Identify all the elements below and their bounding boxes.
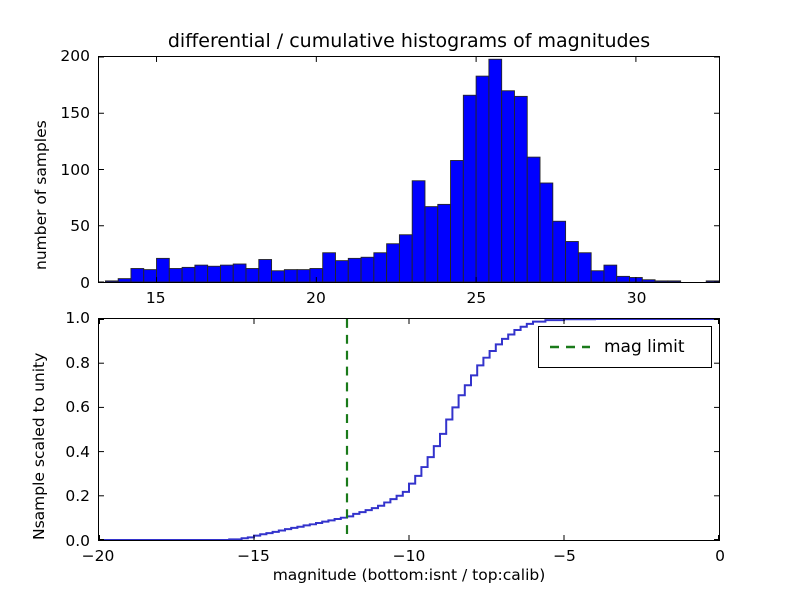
chart-title: differential / cumulative histograms of … bbox=[98, 30, 720, 52]
histogram-bar bbox=[578, 253, 591, 282]
x-axis-label: magnitude (bottom:isnt / top:calib) bbox=[98, 566, 720, 584]
top-panel-y-tick-label: 100 bbox=[60, 161, 90, 179]
histogram-bar bbox=[451, 161, 464, 283]
histogram-bar bbox=[668, 281, 681, 282]
histogram-bar bbox=[272, 271, 285, 282]
histogram-bar bbox=[208, 266, 221, 282]
bottom-panel-y-tick-label: 0.2 bbox=[65, 487, 90, 505]
histogram-bar bbox=[259, 260, 272, 283]
top-panel-x-tick-label: 15 bbox=[146, 289, 166, 307]
histogram-bar bbox=[438, 204, 451, 282]
bottom-panel-x-tick-label: −5 bbox=[553, 547, 576, 565]
top-panel-y-tick-label: 0 bbox=[80, 274, 90, 292]
bottom-panel-x-tick-label: −20 bbox=[82, 547, 115, 565]
histogram-bar bbox=[144, 270, 157, 282]
figure-canvas: differential / cumulative histograms of … bbox=[0, 0, 800, 600]
histogram-bar bbox=[642, 280, 655, 282]
histogram-bar bbox=[617, 276, 630, 282]
histogram-bar bbox=[348, 258, 361, 282]
histogram-bar bbox=[463, 95, 476, 282]
mag-limit-legend-line-icon bbox=[548, 341, 592, 353]
legend: mag limit bbox=[538, 326, 712, 368]
histogram-bar bbox=[489, 59, 502, 282]
top-panel-y-tick-label: 50 bbox=[70, 217, 90, 235]
bottom-panel-y-tick-label: 0.4 bbox=[65, 443, 90, 461]
histogram-bar bbox=[374, 253, 387, 282]
top-panel-y-tick-label: 200 bbox=[60, 47, 90, 65]
histogram-bar bbox=[540, 183, 553, 282]
histogram-bar bbox=[527, 157, 540, 282]
histogram-bar bbox=[591, 271, 604, 282]
histogram-bar bbox=[502, 91, 515, 282]
histogram-bar bbox=[412, 181, 425, 282]
histogram-bar bbox=[182, 267, 195, 282]
top-panel-y-tick-label: 150 bbox=[60, 104, 90, 122]
histogram-bar bbox=[157, 258, 170, 282]
histogram-bar bbox=[361, 257, 374, 282]
histogram-bar bbox=[425, 207, 438, 282]
histogram-bar bbox=[220, 265, 233, 282]
histogram-bar bbox=[233, 264, 246, 282]
histogram-bar bbox=[118, 279, 131, 282]
histogram-bar bbox=[131, 269, 144, 283]
histogram-bar bbox=[655, 281, 668, 282]
bottom-panel-x-tick-label: −15 bbox=[237, 547, 270, 565]
top-panel-x-tick-label: 25 bbox=[466, 289, 486, 307]
histogram-bar bbox=[195, 265, 208, 282]
histogram-bar bbox=[387, 244, 400, 282]
top-panel-x-tick-label: 30 bbox=[627, 289, 647, 307]
bottom-panel-y-tick-label: 0.6 bbox=[65, 398, 90, 416]
histogram-bar bbox=[169, 269, 182, 283]
histogram-bar bbox=[323, 253, 336, 282]
histogram-bar bbox=[284, 270, 297, 282]
histogram-bar bbox=[105, 281, 118, 282]
bottom-panel-y-axis-label: Nsample scaled to unity bbox=[30, 353, 48, 540]
histogram-plot bbox=[99, 57, 719, 282]
top-panel-axes bbox=[98, 56, 720, 283]
histogram-bar bbox=[399, 235, 412, 282]
bottom-panel-x-tick-label: −10 bbox=[393, 547, 426, 565]
legend-label-mag-limit: mag limit bbox=[604, 337, 685, 357]
bottom-panel-x-tick-label: 0 bbox=[715, 547, 725, 565]
histogram-bar bbox=[566, 242, 579, 283]
histogram-bar bbox=[335, 261, 348, 282]
histogram-bar bbox=[604, 265, 617, 282]
histogram-bar bbox=[553, 221, 566, 282]
histogram-bar bbox=[297, 270, 310, 282]
top-panel-y-axis-label: number of samples bbox=[32, 120, 50, 270]
histogram-bar bbox=[246, 269, 259, 283]
histogram-bar bbox=[476, 76, 489, 282]
bottom-panel-y-tick-label: 1.0 bbox=[65, 309, 90, 327]
bottom-panel-y-tick-label: 0.8 bbox=[65, 354, 90, 372]
histogram-bar bbox=[514, 96, 527, 282]
top-panel-x-tick-label: 20 bbox=[306, 289, 326, 307]
